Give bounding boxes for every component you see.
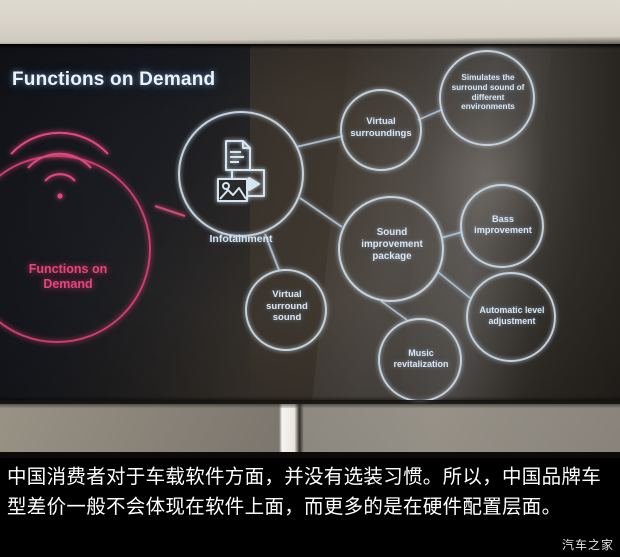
functions-on-demand-node[interactable] (0, 133, 150, 342)
functions-on-demand-label: Functions on Demand (8, 262, 128, 292)
node-label-music-revitalization: Music revitalization (383, 348, 459, 370)
wifi-arc-large-icon (11, 133, 108, 154)
node-label-infotainment: Infotainment (191, 233, 291, 245)
presentation-photo: Functions on Demand Functions on Demand … (0, 0, 620, 458)
connector-sound-bass (441, 232, 462, 238)
node-label-sound-improvement: Sound improvement package (346, 227, 438, 263)
screenshot-root: Functions on Demand Functions on Demand … (0, 0, 620, 557)
node-label-virtual-surroundings: Virtual surroundings (339, 116, 423, 139)
caption-text: 中国消费者对于车载软件方面，并没有选装习惯。所以，中国品牌车型差价一般不会体现在… (7, 462, 607, 522)
lower-wall-texture (0, 404, 620, 458)
node-label-virtual-surround-sound: Virtual surround sound (250, 289, 324, 324)
play-triangle-icon (249, 178, 259, 190)
watermark: 汽车之家 (562, 536, 614, 553)
lower-wall-top-shadow (0, 400, 620, 408)
connector-infotainment-sound-improvement (300, 198, 342, 227)
connector-fod-infotainment (155, 206, 185, 216)
wifi-arc-small-icon (45, 174, 75, 181)
presentation-display: Functions on Demand Functions on Demand … (0, 44, 620, 406)
caption-bar: 中国消费者对于车载软件方面，并没有选装习惯。所以，中国品牌车型差价一般不会体现在… (0, 458, 620, 557)
connector-sound-automatic-level (438, 272, 470, 298)
node-circle-infotainment (179, 112, 303, 236)
node-label-simulates: Simulates the surround sound of differen… (444, 73, 532, 112)
fod-label-line2: Demand (8, 277, 128, 292)
node-label-automatic-level: Automatic level adjustment (468, 305, 556, 327)
page-title: Functions on Demand (12, 69, 215, 91)
wifi-dot-icon (57, 193, 62, 198)
fod-label-line1: Functions on (8, 262, 128, 277)
media-document-video-icon (218, 141, 264, 201)
connector-infotainment-virtual-surroundings (296, 136, 343, 147)
connector-sound-music (381, 301, 407, 320)
node-label-bass-improvement: Bass improvement (464, 214, 542, 236)
document-page-icon (226, 141, 250, 170)
